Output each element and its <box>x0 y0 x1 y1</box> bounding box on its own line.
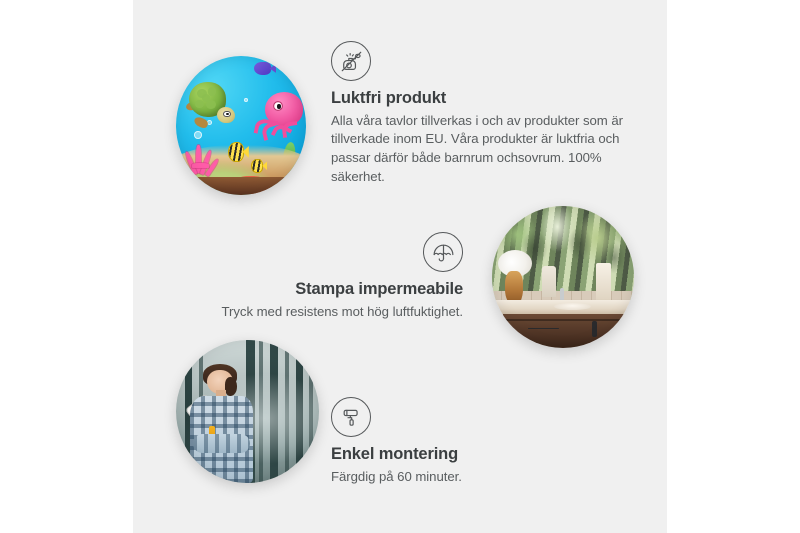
feature-text-odourless: Luktfri produkt Alla våra tavlor tillver… <box>331 41 623 187</box>
no-odour-spray-bottle-icon <box>331 41 371 81</box>
yellow-striped-fish-small <box>251 159 267 173</box>
feature-text-waterproof: Stampa impermeabile Tryck med resistens … <box>208 232 463 321</box>
octopus <box>257 92 304 139</box>
paint-roller-icon <box>331 397 371 437</box>
feature-body-waterproof: Tryck med resistens mot hög luftfuktighe… <box>208 303 463 322</box>
feature-title-odourless: Luktfri produkt <box>331 88 623 109</box>
feature-body-odourless: Alla våra tavlor tillverkas i och av pro… <box>331 112 623 187</box>
underwater-cartoon-photo <box>176 56 306 195</box>
feature-title-waterproof: Stampa impermeabile <box>208 279 463 300</box>
woman-paint-roller-forest-photo <box>176 340 319 483</box>
blue-fish <box>254 62 276 76</box>
feature-body-easy-install: Färgdig på 60 minuter. <box>331 468 581 487</box>
bathroom-botanical-wallpaper-photo <box>492 206 634 348</box>
feature-title-easy-install: Enkel montering <box>331 444 581 465</box>
umbrella-icon <box>423 232 463 272</box>
yellow-striped-fish <box>228 142 249 161</box>
feature-text-easy-install: Enkel montering Färgdig på 60 minuter. <box>331 397 581 486</box>
screenshot-root: Luktfri produkt Alla våra tavlor tillver… <box>0 0 800 533</box>
sea-turtle <box>186 82 235 124</box>
